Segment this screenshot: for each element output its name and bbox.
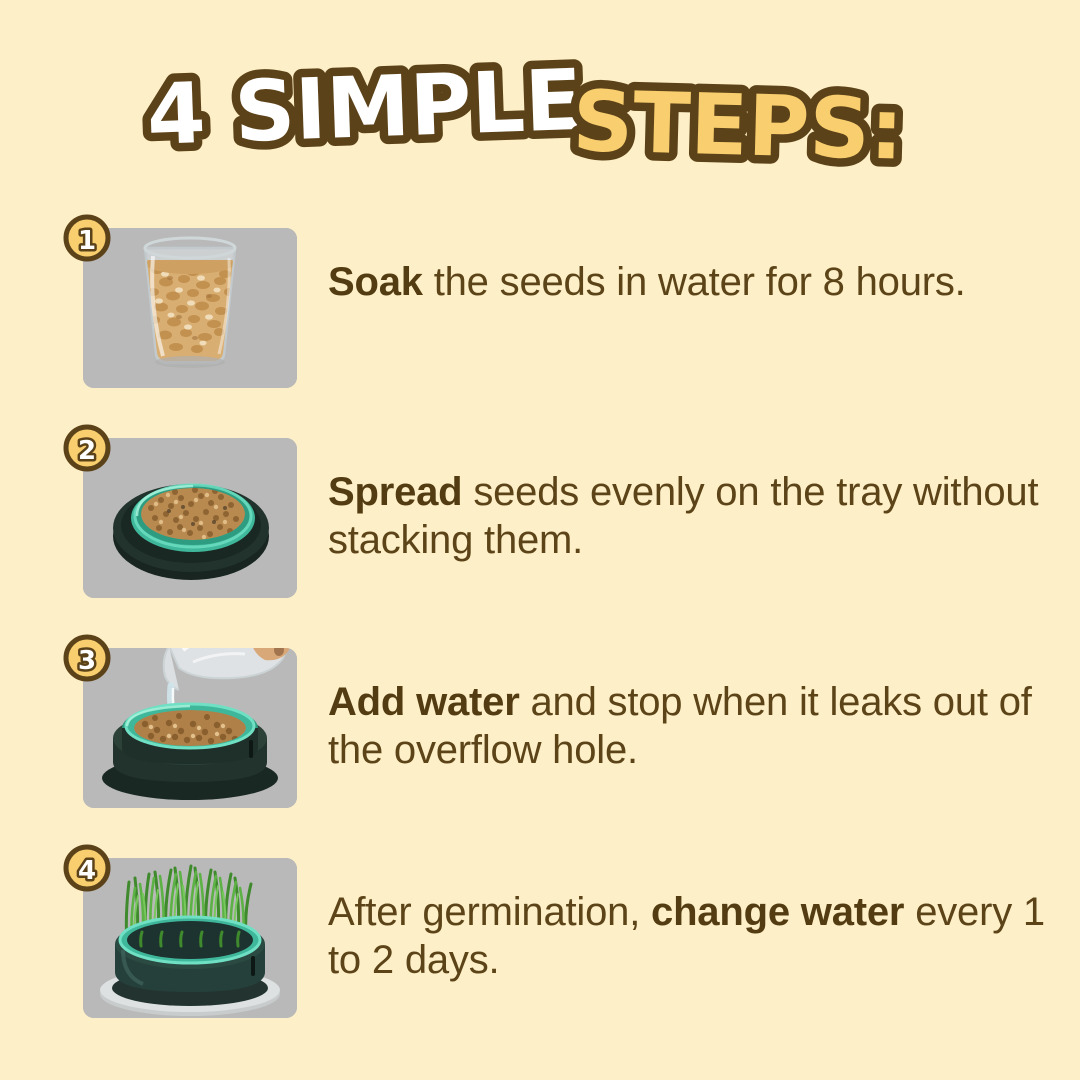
tray-with-spread-seeds-icon <box>83 438 297 598</box>
step-image-clip <box>83 858 297 1018</box>
step-row: 2 2 Spread seeds evenly on the tray with… <box>0 420 1080 620</box>
step-bold-phrase: Spread <box>328 470 462 514</box>
step-row: 4 4 After germination, change water ever… <box>0 840 1080 1040</box>
step-badge-4: 4 4 <box>62 843 112 893</box>
title-part2-fill: STEPS: <box>571 72 904 172</box>
step-image-card-1 <box>83 228 297 388</box>
title-part1-fill: 4 SIMPLE <box>145 52 584 164</box>
glass-of-soaking-seeds-icon <box>83 228 297 388</box>
step-image-card-3 <box>83 648 297 808</box>
step-badge-2: 2 2 <box>62 423 112 473</box>
step-bold-phrase: change water <box>651 890 904 934</box>
step-badge-number: 1 <box>78 226 96 256</box>
step-lead-text: After germination, <box>328 890 651 934</box>
step-badge-number: 2 <box>78 436 96 466</box>
step-description-4: After germination, change water every 1 … <box>328 888 1058 984</box>
pouring-water-into-tray-icon <box>83 648 297 808</box>
step-rest-text: the seeds in water for 8 hours. <box>423 260 966 304</box>
tray-with-grown-microgreens-icon <box>83 858 297 1018</box>
step-image-card-2 <box>83 438 297 598</box>
step-bold-phrase: Add water <box>328 680 520 724</box>
step-badge-1: 1 1 <box>62 213 112 263</box>
step-badge-3: 3 3 <box>62 633 112 683</box>
step-row: 3 3 Add water and stop when it leaks out… <box>0 630 1080 830</box>
step-image-card-4 <box>83 858 297 1018</box>
step-image-clip <box>83 228 297 388</box>
step-row: 1 1 Soak the seeds in water for 8 hours. <box>0 210 1080 410</box>
page-title: .ttl { font-family: "DejaVu Sans", sans-… <box>0 52 1080 172</box>
title-graphic: .ttl { font-family: "DejaVu Sans", sans-… <box>140 52 940 172</box>
step-description-2: Spread seeds evenly on the tray without … <box>328 468 1058 564</box>
step-description-3: Add water and stop when it leaks out of … <box>328 678 1058 774</box>
step-image-clip <box>83 648 297 808</box>
step-badge-number: 3 <box>78 646 96 676</box>
step-image-clip <box>83 438 297 598</box>
step-description-1: Soak the seeds in water for 8 hours. <box>328 258 1058 306</box>
step-badge-number: 4 <box>78 856 96 886</box>
step-bold-phrase: Soak <box>328 260 423 304</box>
